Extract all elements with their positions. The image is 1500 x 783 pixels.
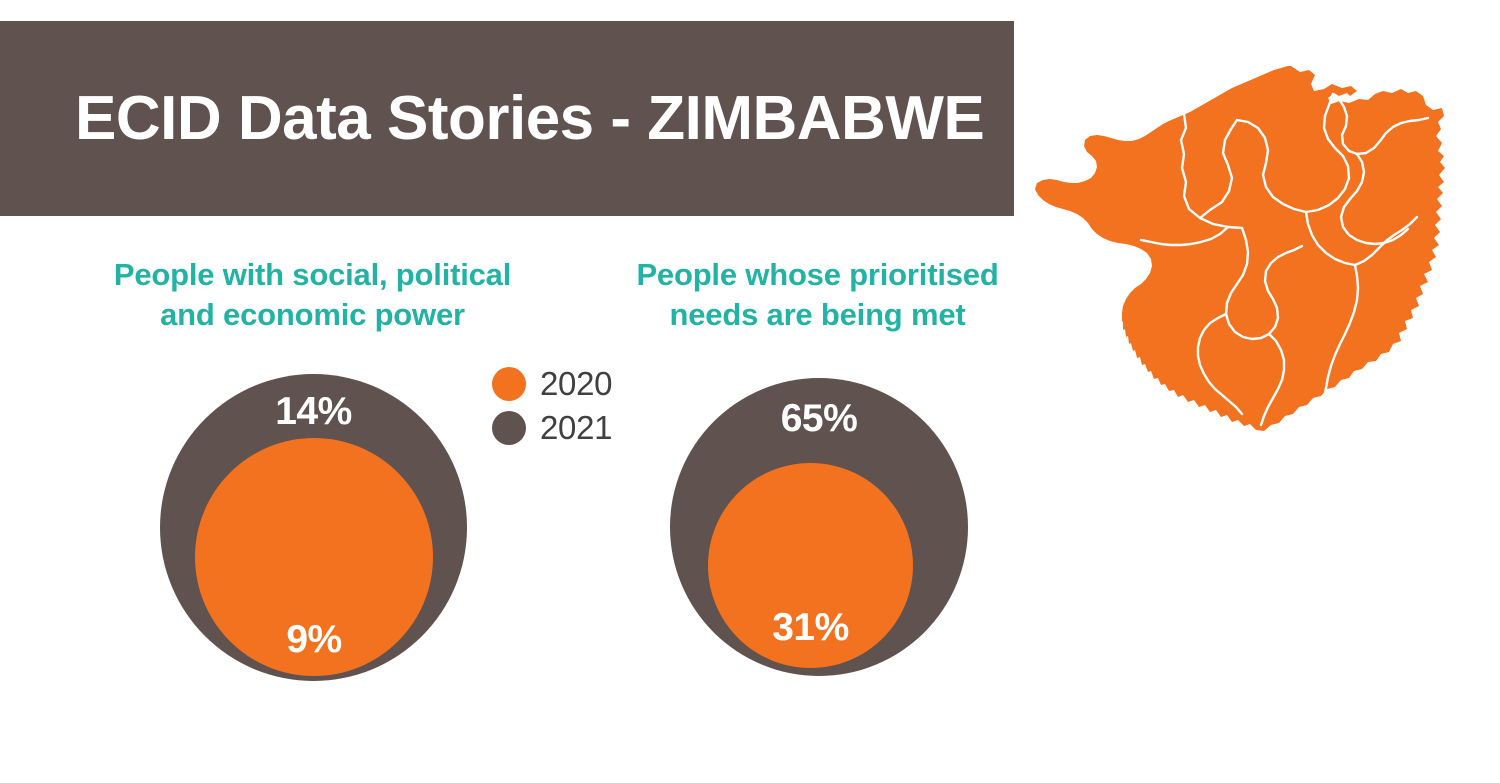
- zimbabwe-map: [1032, 44, 1492, 454]
- panel-heading-line-1: People with social, political: [60, 255, 565, 295]
- panel-heading-line-2: needs are being met: [590, 295, 1045, 335]
- bubble-value-2020-power: 9%: [286, 618, 341, 662]
- brown-dot-icon: [492, 411, 526, 445]
- page-title: ECID Data Stories - ZIMBABWE: [75, 83, 984, 154]
- legend-item-2020[interactable]: 2020: [492, 362, 612, 406]
- bubble-value-2020-needs: 31%: [772, 606, 849, 650]
- panel-heading-line-2: and economic power: [60, 295, 565, 335]
- panel-heading-power: People with social, political and econom…: [60, 255, 565, 336]
- legend-label-2020: 2020: [540, 365, 612, 403]
- orange-dot-icon: [492, 367, 526, 401]
- panel-heading-line-1: People whose prioritised: [590, 255, 1045, 295]
- bubble-2020-needs[interactable]: 31%: [708, 463, 913, 668]
- legend: 2020 2021: [492, 362, 612, 450]
- bubble-2020-power[interactable]: 9%: [195, 438, 433, 676]
- bubble-value-2021-needs: 65%: [781, 397, 858, 441]
- panel-heading-needs: People whose prioritised needs are being…: [590, 255, 1045, 336]
- header-bar: ECID Data Stories - ZIMBABWE: [0, 21, 1014, 216]
- legend-label-2021: 2021: [540, 409, 612, 447]
- bubble-chart-needs: 65% 31%: [665, 374, 975, 684]
- zimbabwe-map-icon: [1032, 44, 1492, 454]
- panel-needs: People whose prioritised needs are being…: [590, 255, 1045, 336]
- bubble-value-2021-power: 14%: [275, 390, 352, 434]
- panel-power: People with social, political and econom…: [60, 255, 565, 336]
- bubble-chart-power: 14% 9%: [155, 370, 475, 685]
- legend-item-2021[interactable]: 2021: [492, 406, 612, 450]
